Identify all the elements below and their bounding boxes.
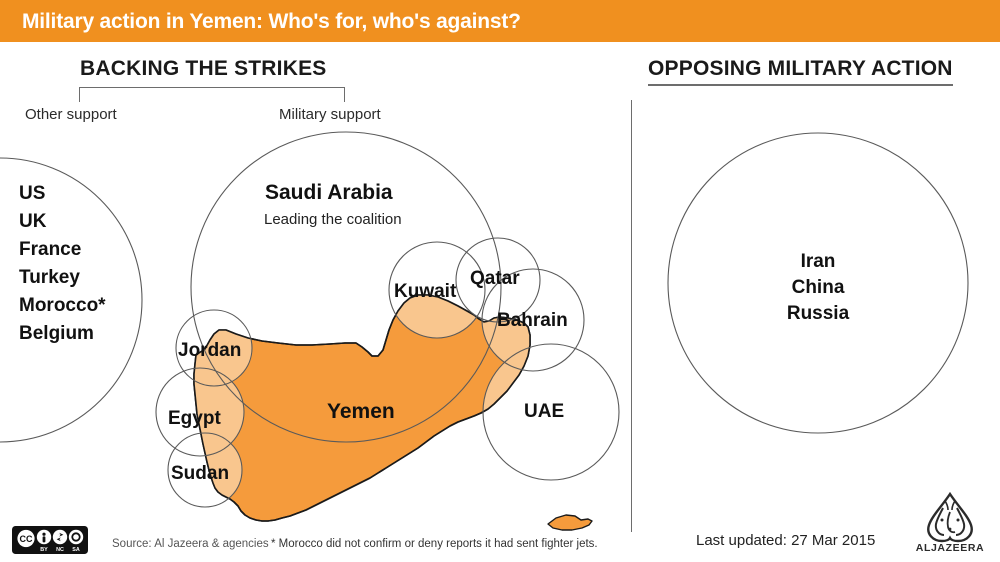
label-kuwait: Kuwait <box>394 281 456 303</box>
other-support-country: Belgium <box>19 320 106 348</box>
label-bahrain: Bahrain <box>497 310 568 332</box>
cc-by-text: BY <box>40 547 48 553</box>
opposing-country-list: Iran China Russia <box>668 249 968 327</box>
cc-nc-text: NC <box>56 547 64 553</box>
aljazeera-teardrop-icon <box>928 494 971 541</box>
label-yemen: Yemen <box>327 400 395 424</box>
cc-mark-text: CC <box>20 534 33 544</box>
label-uae: UAE <box>524 401 564 423</box>
aljazeera-wordmark: ALJAZEERA <box>916 542 984 554</box>
opposing-country: China <box>668 275 968 301</box>
label-sudan: Sudan <box>171 463 229 485</box>
morocco-footnote: * Morocco did not confirm or deny report… <box>271 538 598 550</box>
creative-commons-badge: CC BY NC SA <box>12 526 88 554</box>
label-saudi-arabia: Saudi Arabia <box>265 181 393 205</box>
label-saudi-arabia-note: Leading the coalition <box>264 211 402 228</box>
label-egypt: Egypt <box>168 408 221 430</box>
label-jordan: Jordan <box>178 340 241 362</box>
socotra-island <box>548 515 592 530</box>
opposing-country: Iran <box>668 249 968 275</box>
other-support-country: Turkey <box>19 264 106 292</box>
other-support-country: France <box>19 236 106 264</box>
infographic-root: Military action in Yemen: Who's for, who… <box>0 0 1000 562</box>
aljazeera-logo: ALJAZEERA <box>912 492 988 554</box>
label-qatar: Qatar <box>470 268 520 290</box>
other-support-country: UK <box>19 208 106 236</box>
other-support-country: Morocco* <box>19 292 106 320</box>
last-updated-text: Last updated: 27 Mar 2015 <box>696 532 875 549</box>
cc-sa-text: SA <box>72 547 80 553</box>
source-credit: Source: Al Jazeera & agencies <box>112 538 269 550</box>
opposing-country: Russia <box>668 301 968 327</box>
other-support-country: US <box>19 180 106 208</box>
other-support-country-list: US UK France Turkey Morocco* Belgium <box>19 180 106 348</box>
